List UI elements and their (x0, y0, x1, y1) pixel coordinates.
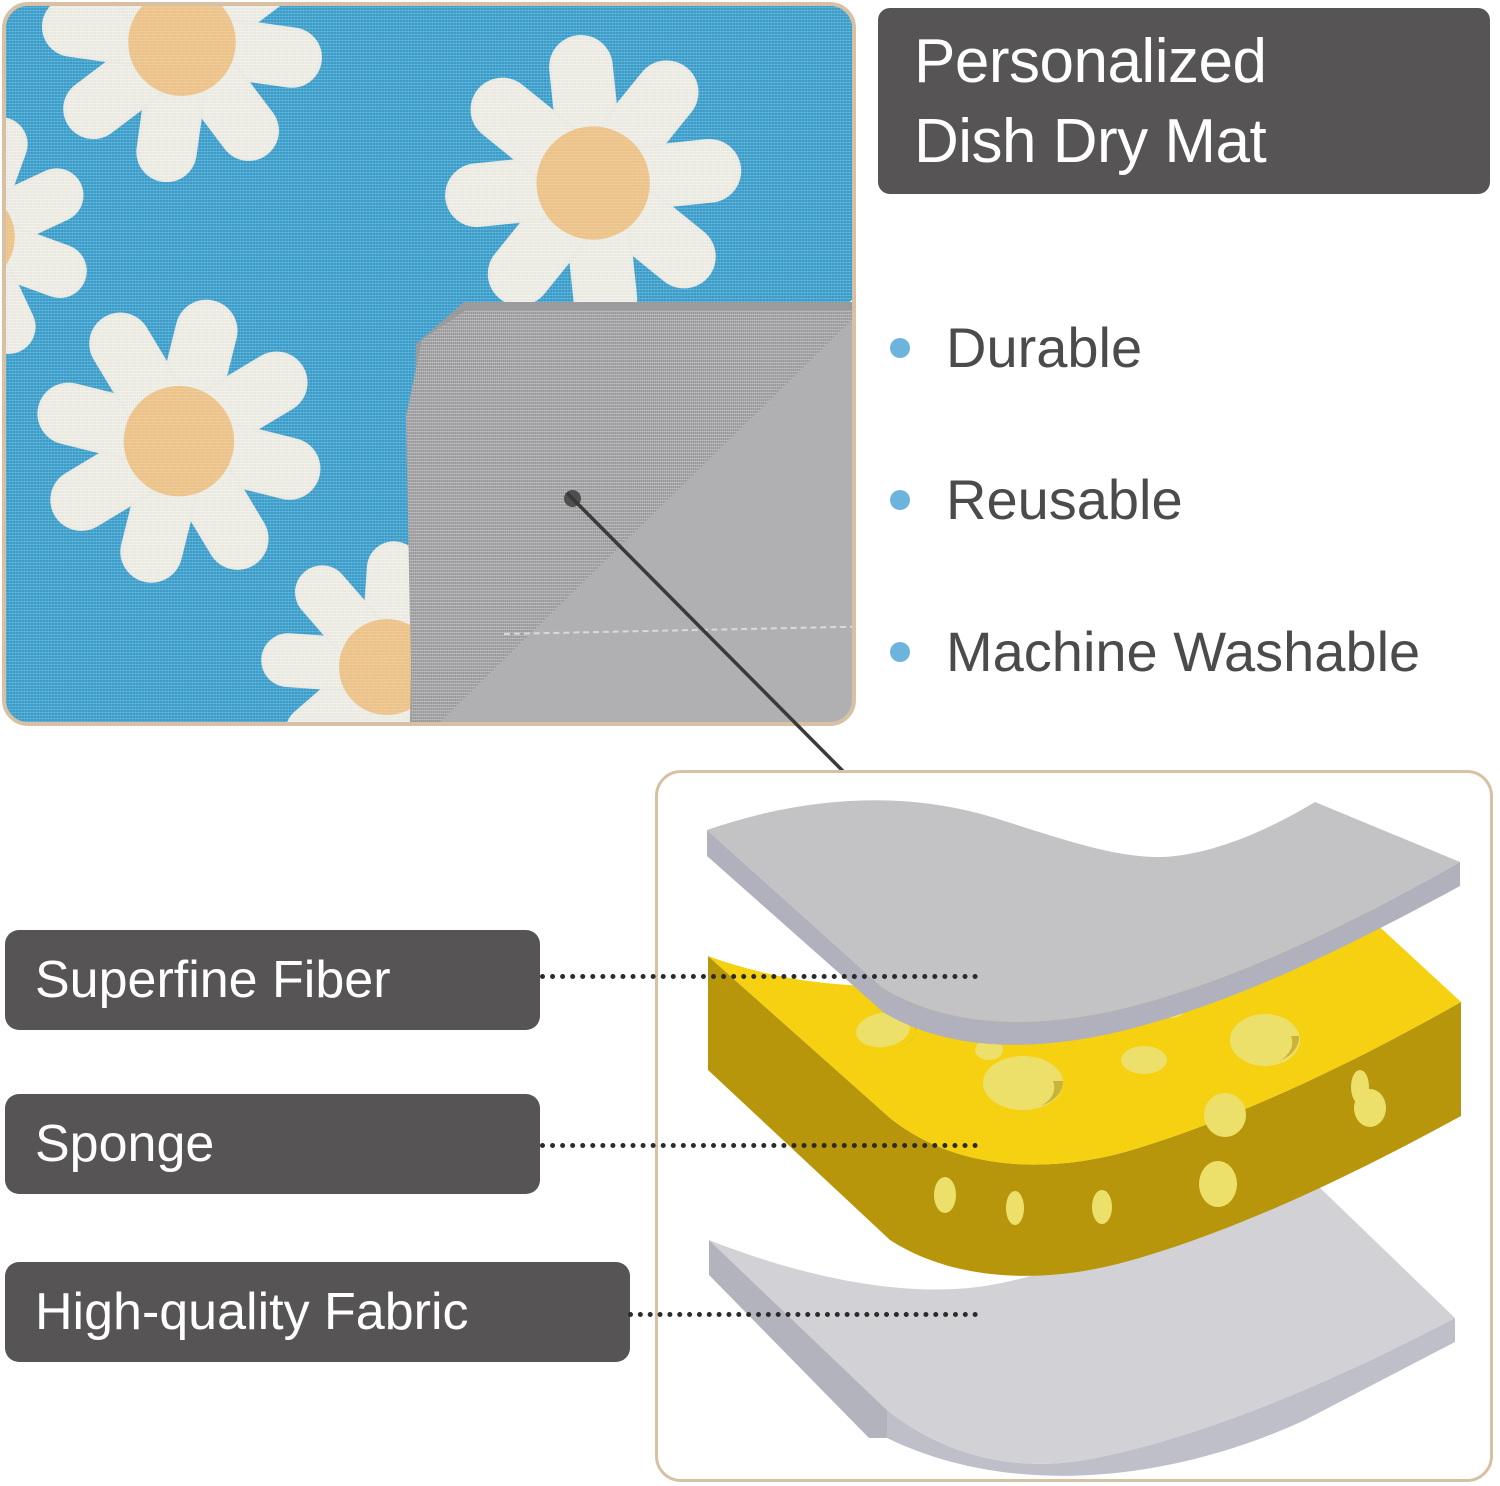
daisy-flower (592, 182, 593, 183)
callout-dot-marker (564, 490, 581, 507)
feature-label: Machine Washable (946, 623, 1420, 681)
feature-item-durable: Durable (890, 272, 1490, 424)
daisy-flower (386, 666, 387, 667)
title-banner: Personalized Dish Dry Mat (878, 8, 1490, 194)
daisy-flower (181, 41, 182, 42)
label-high-quality-fabric: High-quality Fabric (5, 1262, 630, 1362)
label-superfine-fiber: Superfine Fiber (5, 930, 540, 1030)
bullet-dot-icon (890, 490, 910, 510)
daisy-flower (178, 440, 179, 441)
page-title-line-1: Personalized (914, 22, 1460, 102)
feature-list: Durable Reusable Machine Washable (890, 272, 1490, 728)
bullet-dot-icon (890, 642, 910, 662)
connector-superfine-fiber (540, 974, 978, 979)
folded-corner (406, 296, 856, 726)
product-photo-panel (2, 2, 856, 726)
label-text: High-quality Fabric (35, 1284, 469, 1340)
bullet-dot-icon (890, 338, 910, 358)
layer-diagram-panel (655, 770, 1493, 1482)
feature-item-reusable: Reusable (890, 424, 1490, 576)
feature-label: Reusable (946, 471, 1183, 529)
feature-item-machine-washable: Machine Washable (890, 576, 1490, 728)
label-text: Sponge (35, 1116, 214, 1172)
feature-label: Durable (946, 319, 1142, 377)
label-sponge: Sponge (5, 1094, 540, 1194)
connector-high-quality-fabric (628, 1312, 978, 1317)
connector-sponge (540, 1143, 978, 1148)
page-title-line-2: Dish Dry Mat (914, 102, 1460, 182)
label-text: Superfine Fiber (35, 952, 391, 1008)
product-infographic: Personalized Dish Dry Mat Durable Reusab… (0, 0, 1500, 1486)
